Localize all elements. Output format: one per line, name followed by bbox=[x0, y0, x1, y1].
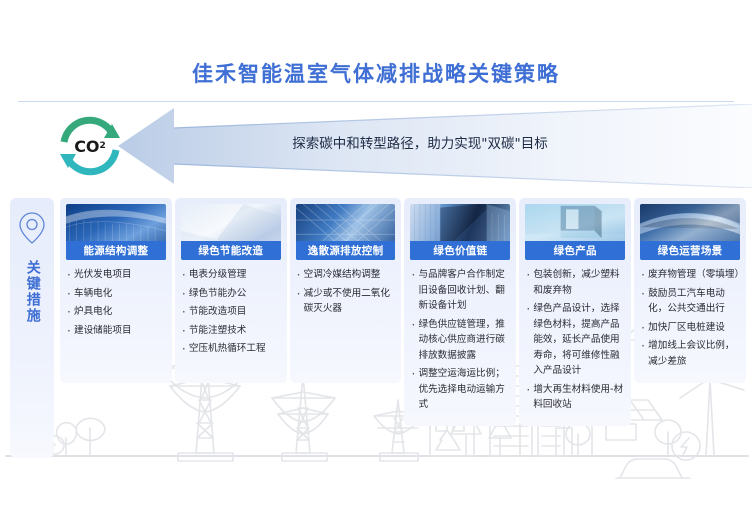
electric-car-icon bbox=[616, 459, 690, 478]
strategy-card-green-retrofit[interactable]: 绿色节能改造 电表分级管理 绿色节能办公 节能改造项目 节能注塑技术 空压机热循… bbox=[175, 198, 287, 383]
list-item: 调整空运海运比例；优先选择电动运输方式 bbox=[410, 366, 510, 413]
card-image-green-product: 绿色产品 bbox=[525, 204, 625, 260]
card-list-green-value-chain: 与品牌客户合作制定旧设备回收计划、翻新设备计划 绿色供应链管理，推动核心供应商进… bbox=[410, 267, 510, 413]
card-list-green-retrofit: 电表分级管理 绿色节能办公 节能改造项目 节能注塑技术 空压机热循环工程 bbox=[181, 267, 281, 357]
list-item: 光伏发电项目 bbox=[66, 267, 166, 283]
card-title-green-value-chain: 绿色价值链 bbox=[433, 243, 487, 258]
recycle-icon bbox=[436, 430, 460, 450]
card-band-energy-structure: 能源结构调整 bbox=[66, 241, 166, 260]
list-item: 空压机热循环工程 bbox=[181, 341, 281, 357]
card-band-green-retrofit: 绿色节能改造 bbox=[181, 241, 281, 260]
card-title-energy-structure: 能源结构调整 bbox=[84, 243, 149, 258]
page-title: 佳禾智能温室气体减排战略关键策略 bbox=[0, 58, 752, 88]
list-item: 废弃物管理（零填埋） bbox=[640, 267, 740, 283]
card-title-green-operations: 绿色运营场景 bbox=[658, 243, 723, 258]
strategy-cards: 能源结构调整 光伏发电项目 车辆电化 炉具电化 建设储能项目 绿色节能改造 bbox=[60, 198, 746, 426]
list-item: 节能注塑技术 bbox=[181, 323, 281, 339]
card-list-green-product: 包装创新，减少塑料和废弃物 绿色产品设计，选择绿色材料，提高产品能效，延长产品使… bbox=[525, 267, 625, 413]
banner-text: 探索碳中和转型路径，助力实现"双碳"目标 bbox=[220, 132, 620, 152]
card-band-fugitive-emissions: 逸散源排放控制 bbox=[296, 241, 396, 260]
list-item: 加快厂区电桩建设 bbox=[640, 320, 740, 336]
strategy-card-green-value-chain[interactable]: 绿色价值链 与品牌客户合作制定旧设备回收计划、翻新设备计划 绿色供应链管理，推动… bbox=[404, 198, 516, 426]
list-item: 包装创新，减少塑料和废弃物 bbox=[525, 267, 625, 298]
list-item: 建设储能项目 bbox=[66, 323, 166, 339]
list-item: 减少或不使用二氧化碳灭火器 bbox=[296, 286, 396, 317]
card-band-green-value-chain: 绿色价值链 bbox=[410, 241, 510, 260]
card-image-green-retrofit: 绿色节能改造 bbox=[181, 204, 281, 260]
card-list-energy-structure: 光伏发电项目 车辆电化 炉具电化 建设储能项目 bbox=[66, 267, 166, 338]
list-item: 电表分级管理 bbox=[181, 267, 281, 283]
card-image-green-value-chain: 绿色价值链 bbox=[410, 204, 510, 260]
list-item: 炉具电化 bbox=[66, 304, 166, 320]
card-image-green-operations: 绿色运营场景 bbox=[640, 204, 740, 260]
list-item: 鼓励员工汽车电动化，公共交通出行 bbox=[640, 286, 740, 317]
list-item: 增大再生材料使用-材料回收站 bbox=[525, 382, 625, 413]
card-band-green-operations: 绿色运营场景 bbox=[640, 241, 740, 260]
card-list-fugitive-emissions: 空调冷媒结构调整 减少或不使用二氧化碳灭火器 bbox=[296, 267, 396, 317]
card-band-green-product: 绿色产品 bbox=[525, 241, 625, 260]
page-title-wrap: 佳禾智能温室气体减排战略关键策略 bbox=[0, 58, 752, 88]
tree-icon bbox=[566, 423, 590, 456]
card-title-fugitive-emissions: 逸散源排放控制 bbox=[308, 243, 384, 258]
card-title-green-product: 绿色产品 bbox=[554, 243, 597, 258]
list-item: 空调冷媒结构调整 bbox=[296, 267, 396, 283]
strategy-card-fugitive-emissions[interactable]: 逸散源排放控制 空调冷媒结构调整 减少或不使用二氧化碳灭火器 bbox=[290, 198, 402, 383]
card-image-fugitive-emissions: 逸散源排放控制 bbox=[296, 204, 396, 260]
card-list-green-operations: 废弃物管理（零填埋） 鼓励员工汽车电动化，公共交通出行 加快厂区电桩建设 增加线… bbox=[640, 267, 740, 369]
card-image-energy-structure: 能源结构调整 bbox=[66, 204, 166, 260]
list-item: 车辆电化 bbox=[66, 286, 166, 302]
lightning-bolt-icon bbox=[672, 432, 700, 460]
location-pin-icon bbox=[19, 212, 45, 244]
list-item: 绿色产品设计，选择绿色材料，提高产品能效，延长产品使用寿命，将可维修性融入产品设… bbox=[525, 301, 625, 379]
co2-subscript: 2 bbox=[100, 141, 106, 151]
title-divider bbox=[18, 101, 734, 102]
list-item: 节能改造项目 bbox=[181, 304, 281, 320]
list-item: 增加线上会议比例，减少差旅 bbox=[640, 338, 740, 369]
list-item: 绿色供应链管理，推动核心供应商进行碳排放数据披露 bbox=[410, 317, 510, 364]
list-item: 与品牌客户合作制定旧设备回收计划、翻新设备计划 bbox=[410, 267, 510, 314]
co2-label: CO2 bbox=[52, 108, 128, 184]
list-item: 绿色节能办公 bbox=[181, 286, 281, 302]
infographic-page: 佳禾智能温室气体减排战略关键策略 探索碳中和转型路径，助力实现"双碳"目标 bbox=[0, 0, 752, 530]
card-title-green-retrofit: 绿色节能改造 bbox=[198, 243, 263, 258]
strategy-card-green-operations[interactable]: 绿色运营场景 废弃物管理（零填埋） 鼓励员工汽车电动化，公共交通出行 加快厂区电… bbox=[634, 198, 746, 383]
strategy-card-green-product[interactable]: 绿色产品 包装创新，减少塑料和废弃物 绿色产品设计，选择绿色材料，提高产品能效，… bbox=[519, 198, 631, 426]
sidebar-label: 关键措施 bbox=[23, 260, 41, 324]
strategy-card-energy-structure[interactable]: 能源结构调整 光伏发电项目 车辆电化 炉具电化 建设储能项目 bbox=[60, 198, 172, 383]
co2-text: CO bbox=[74, 137, 99, 156]
key-measures-sidebar: 关键措施 bbox=[10, 198, 54, 458]
